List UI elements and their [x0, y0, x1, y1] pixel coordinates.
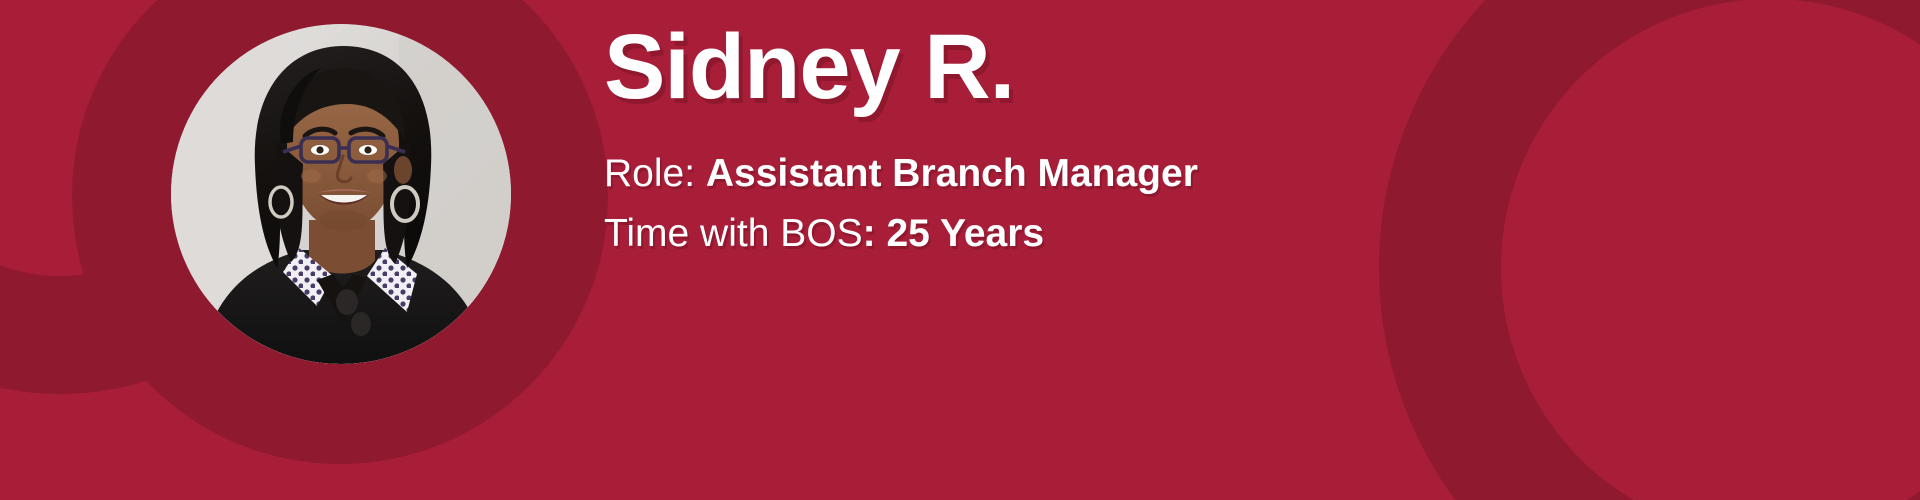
tenure-value: 25 Years — [886, 212, 1044, 255]
profile-text-block: Sidney R. Role: Assistant Branch Manager… — [604, 18, 1504, 263]
tenure-separator: : — [863, 212, 876, 255]
tenure-label: Time with BOS — [604, 212, 863, 255]
role-label: Role: — [604, 152, 695, 195]
avatar — [171, 24, 511, 364]
page-title: Sidney R. — [604, 18, 1504, 116]
role-line: Role: Assistant Branch Manager — [604, 144, 1504, 203]
portrait-image — [171, 24, 511, 364]
employee-spotlight-banner: Sidney R. Role: Assistant Branch Manager… — [0, 0, 1920, 500]
role-value: Assistant Branch Manager — [706, 152, 1198, 195]
tenure-line: Time with BOS: 25 Years — [604, 204, 1504, 263]
decorative-ring-right — [1440, 0, 1920, 500]
